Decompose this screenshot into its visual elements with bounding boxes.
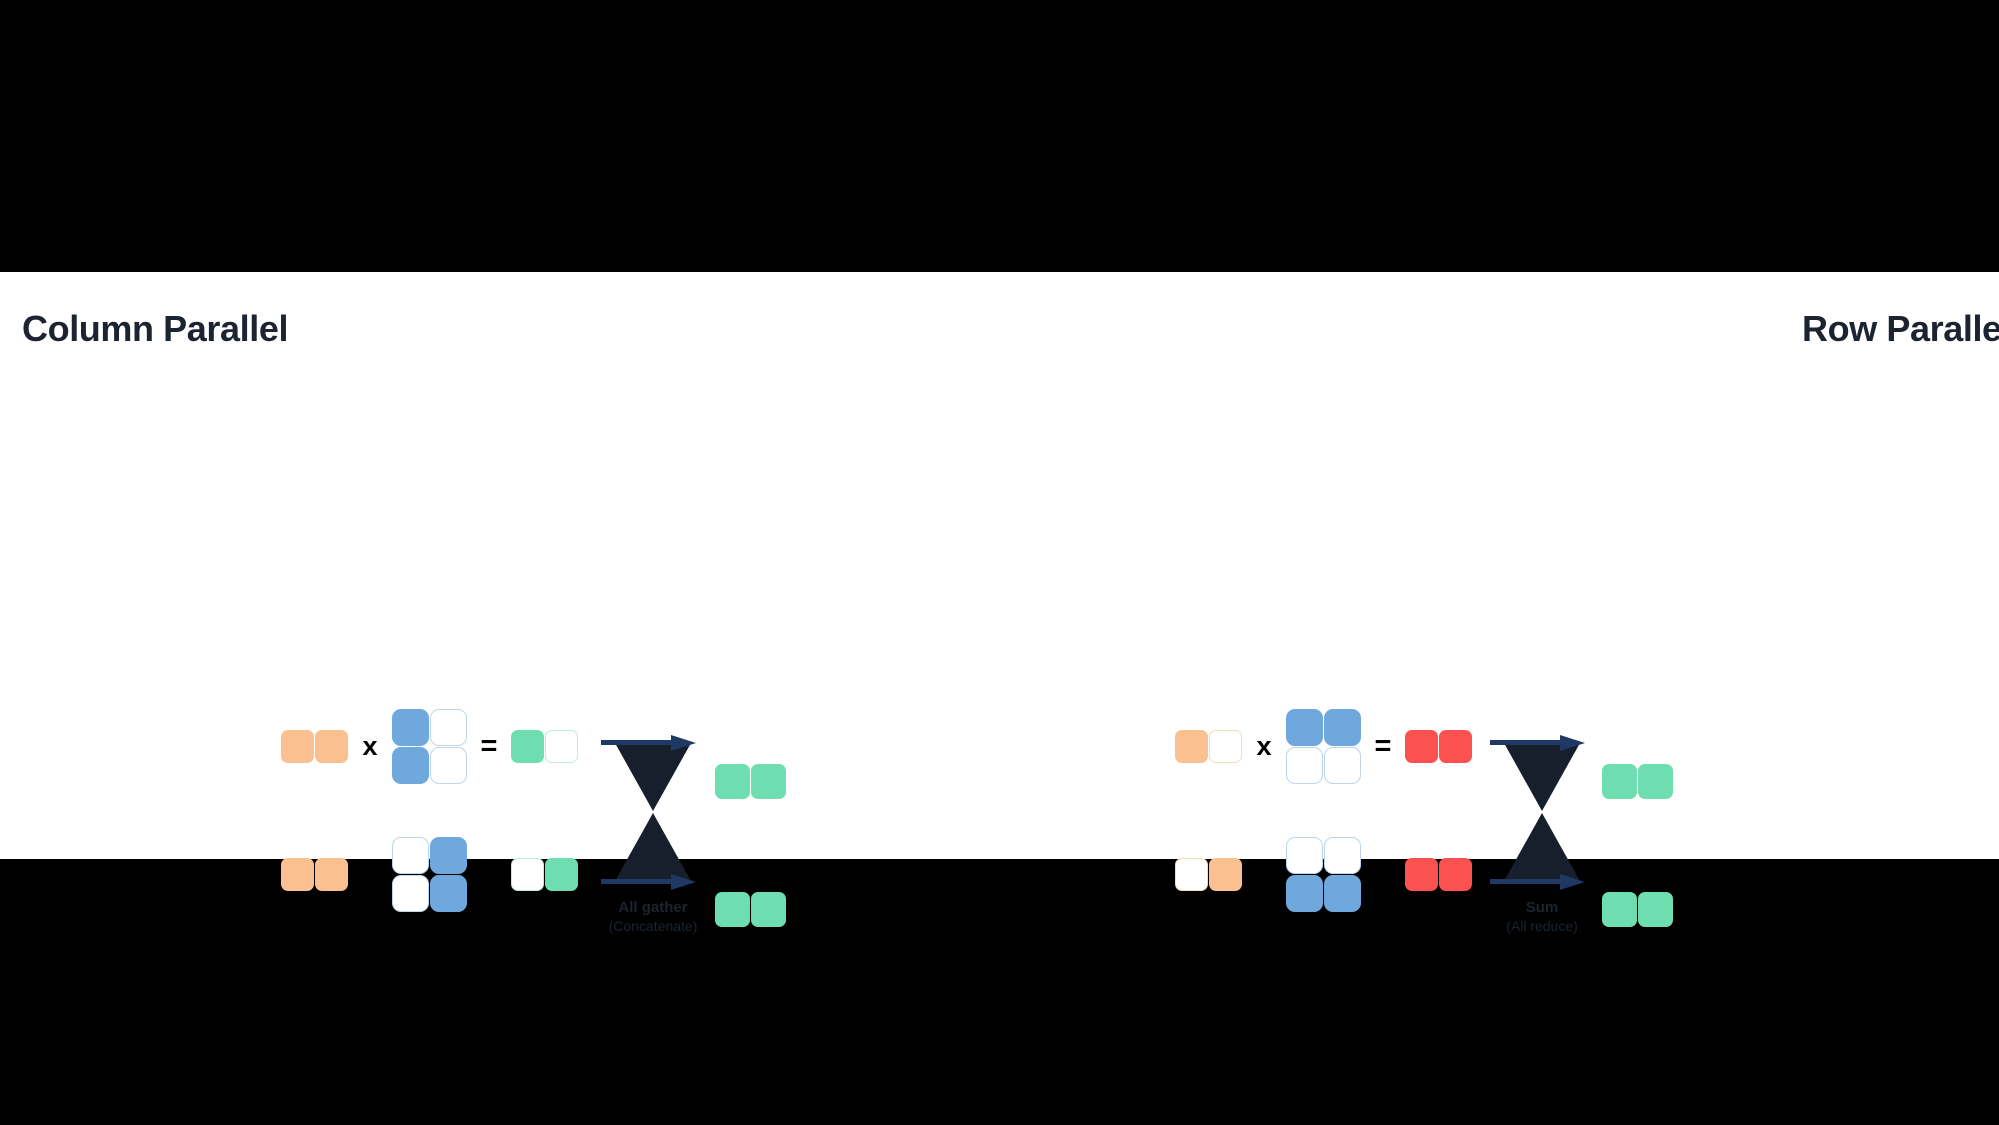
collective-allgather: All gather (Concatenate) xyxy=(601,727,705,897)
matrix-cell xyxy=(751,892,786,927)
matrix-cell xyxy=(430,875,467,912)
matrix-cell xyxy=(545,858,578,891)
partial-output-vector xyxy=(511,730,578,763)
bowtie-arrows-icon xyxy=(601,727,705,897)
operator-multiply: x xyxy=(1242,861,1286,888)
panel-column-parallel: Column Parallel x = xyxy=(0,272,900,859)
matrix-cell xyxy=(1405,730,1438,763)
matrix-cell xyxy=(430,837,467,874)
final-output-vector xyxy=(1602,764,1673,799)
matrix-cell xyxy=(281,858,314,891)
matrix-cell xyxy=(1324,837,1361,874)
equation-row: x = xyxy=(281,842,578,906)
collective-allreduce: Sum (All reduce) xyxy=(1490,727,1594,897)
weight-grid xyxy=(392,709,467,784)
matrix-cell xyxy=(1324,875,1361,912)
operator-multiply: x xyxy=(348,733,392,760)
matrix-cell xyxy=(1439,858,1472,891)
matrix-cell xyxy=(715,892,750,927)
operator-equals: = xyxy=(1361,732,1405,761)
operator-equals: = xyxy=(467,860,511,889)
matrix-cell xyxy=(281,730,314,763)
matrix-cell xyxy=(392,837,429,874)
weight-grid xyxy=(1286,837,1361,912)
matrix-cell xyxy=(511,730,544,763)
panel-title-column-parallel: Column Parallel xyxy=(22,308,288,350)
matrix-cell xyxy=(1602,764,1637,799)
matrix-cell xyxy=(1209,858,1242,891)
matrix-cell xyxy=(1638,892,1673,927)
matrix-cell xyxy=(715,764,750,799)
matrix-cell xyxy=(430,709,467,746)
matrix-cell xyxy=(1324,709,1361,746)
input-vector xyxy=(1175,858,1242,891)
equation-row: x = xyxy=(1175,714,1472,778)
matrix-cell xyxy=(1638,764,1673,799)
matrix-cell xyxy=(1405,858,1438,891)
matrix-cell xyxy=(1286,709,1323,746)
matrix-cell xyxy=(392,709,429,746)
matrix-cell xyxy=(1324,747,1361,784)
operator-equals: = xyxy=(1361,860,1405,889)
panel-row-parallel: Row Parallel x = xyxy=(890,272,1790,859)
final-output-vector xyxy=(715,892,786,927)
matrix-cell xyxy=(1286,837,1323,874)
final-output-vector xyxy=(1602,892,1673,927)
matrix-cell xyxy=(1175,730,1208,763)
panel-title-row-parallel: Row Parallel xyxy=(1802,308,1999,350)
partial-output-vector xyxy=(511,858,578,891)
matrix-cell xyxy=(511,858,544,891)
partial-output-vector xyxy=(1405,858,1472,891)
matrix-cell xyxy=(392,875,429,912)
matrix-cell xyxy=(751,764,786,799)
equation-row: x = xyxy=(281,714,578,778)
bowtie-arrows-icon xyxy=(1490,727,1594,897)
input-vector xyxy=(281,858,348,891)
equation-row: x = xyxy=(1175,842,1472,906)
matrix-cell xyxy=(1286,875,1323,912)
matrix-cell xyxy=(1175,858,1208,891)
weight-grid xyxy=(1286,709,1361,784)
operator-multiply: x xyxy=(348,861,392,888)
input-vector xyxy=(1175,730,1242,763)
diagram-canvas: Column Parallel x = xyxy=(0,272,1999,859)
matrix-cell xyxy=(315,858,348,891)
matrix-cell xyxy=(430,747,467,784)
operator-equals: = xyxy=(467,732,511,761)
matrix-cell xyxy=(315,730,348,763)
operator-multiply: x xyxy=(1242,733,1286,760)
matrix-cell xyxy=(1209,730,1242,763)
matrix-cell xyxy=(545,730,578,763)
weight-grid xyxy=(392,837,467,912)
final-output-vector xyxy=(715,764,786,799)
matrix-cell xyxy=(1286,747,1323,784)
partial-output-vector xyxy=(1405,730,1472,763)
matrix-cell xyxy=(1439,730,1472,763)
matrix-cell xyxy=(1602,892,1637,927)
matrix-cell xyxy=(392,747,429,784)
input-vector xyxy=(281,730,348,763)
letterbox-bar-top xyxy=(0,0,1999,272)
